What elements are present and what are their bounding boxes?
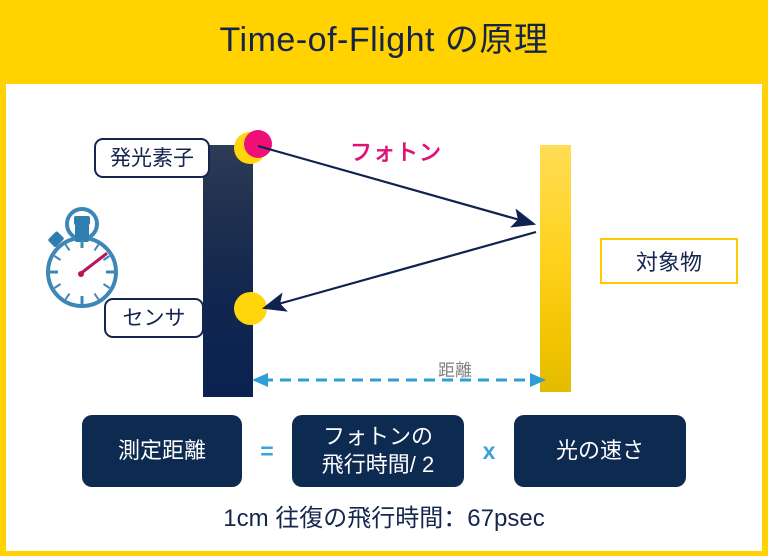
sensor-dot-icon	[234, 292, 267, 325]
sensor-label-text: センサ	[123, 308, 186, 329]
formula-term-1-text: 測定距離	[118, 437, 206, 465]
target-object-bar	[540, 145, 571, 392]
stopwatch-icon	[36, 202, 128, 312]
formula-term-measured-distance[interactable]: 測定距離	[82, 415, 242, 487]
formula-operator-equals: =	[242, 438, 292, 465]
target-label-text: 対象物	[636, 245, 702, 277]
photon-label: フォトン	[350, 135, 442, 167]
tof-diagram: 発光素子 センサ 対象物 フォトン 距離	[6, 84, 762, 414]
emitter-label-box[interactable]: 発光素子	[94, 138, 210, 178]
distance-label: 距離	[438, 356, 472, 381]
sensor-module-bar	[203, 145, 253, 397]
formula-term-3-text: 光の速さ	[556, 437, 644, 465]
caption: 1cm 往復の飛行時間：67psec	[6, 498, 762, 533]
target-label-box[interactable]: 対象物	[600, 238, 738, 284]
formula-term-speed-of-light[interactable]: 光の速さ	[514, 415, 686, 487]
formula-term-2-line-2: 飛行時間/ 2	[322, 451, 434, 479]
content-panel: 発光素子 センサ 対象物 フォトン 距離 測定距離 = フォトンの 飛行時間/ …	[6, 84, 762, 551]
formula-term-2-line-1: フォトンの	[322, 423, 434, 451]
emitter-label-text: 発光素子	[110, 148, 194, 169]
photon-dot-icon	[244, 130, 272, 158]
slide: Time-of-Flight の原理	[0, 0, 768, 556]
sensor-label-box[interactable]: センサ	[104, 298, 204, 338]
page-title: Time-of-Flight の原理	[0, 16, 768, 64]
formula-term-flight-time[interactable]: フォトンの 飛行時間/ 2	[292, 415, 464, 487]
formula-row: 測定距離 = フォトンの 飛行時間/ 2 x 光の速さ	[6, 408, 762, 494]
formula-operator-multiply: x	[464, 438, 514, 465]
